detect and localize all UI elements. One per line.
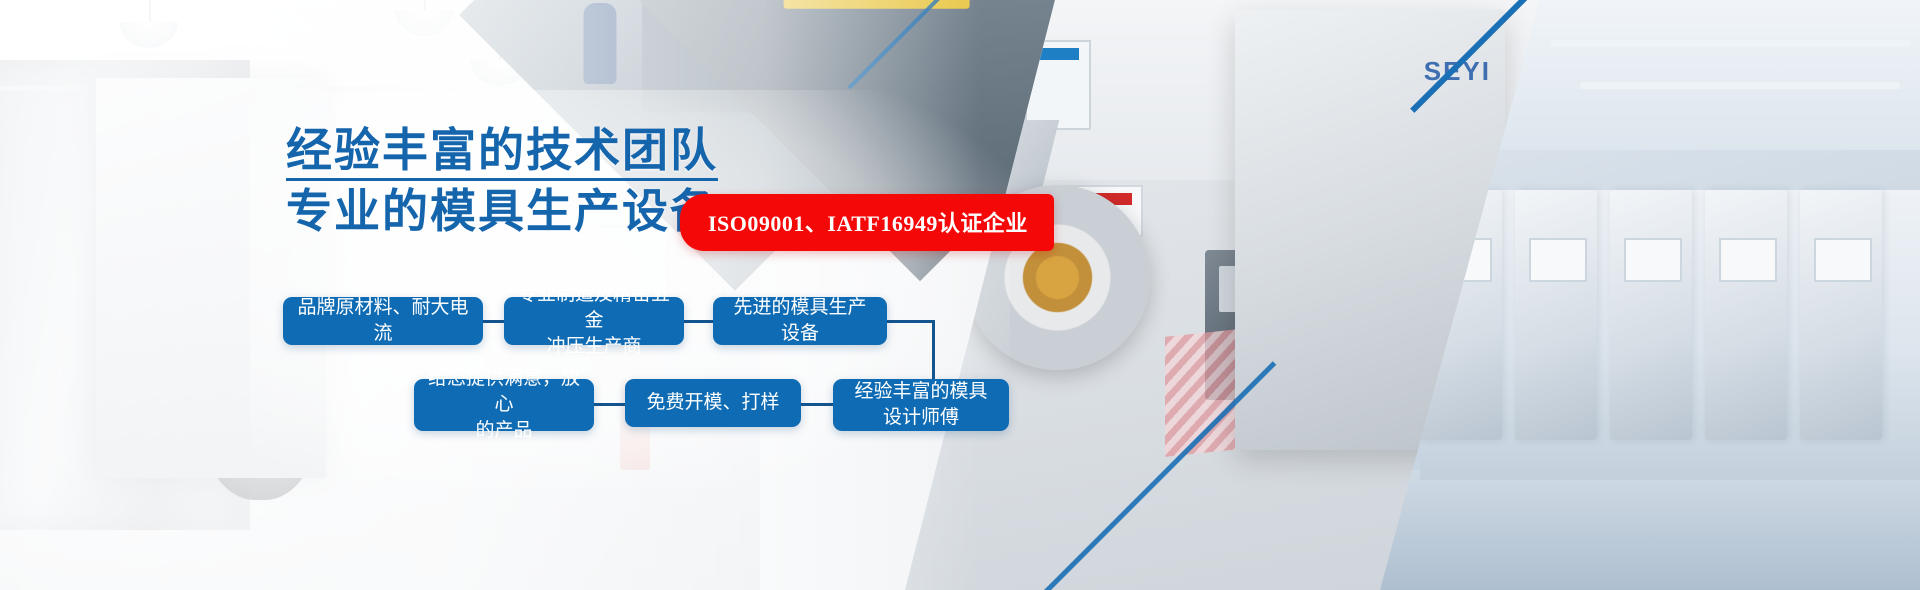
promo-banner: 经验丰富的技术团队 专业的模具生产设备 ISO09001、IATF16949认证… [0, 0, 1920, 590]
headline-line-2: 专业的模具生产设备 [286, 178, 718, 239]
feature-box-satisfaction-products[interactable]: 给您提供满意，放心 的产品 [414, 379, 594, 431]
connector-box5-box6 [801, 403, 833, 406]
connector-box4-box5 [594, 403, 625, 406]
connector-box1-box2 [483, 320, 504, 323]
feature-box-advanced-mold-equipment[interactable]: 先进的模具生产设备 [713, 297, 887, 345]
feature-box-brand-materials[interactable]: 品牌原材料、耐大电流 [283, 297, 483, 345]
banner-content: 经验丰富的技术团队 专业的模具生产设备 ISO09001、IATF16949认证… [0, 0, 1920, 590]
headline-line-1: 经验丰富的技术团队 [286, 122, 718, 178]
feature-box-experienced-designers[interactable]: 经验丰富的模具 设计师傅 [833, 379, 1009, 431]
feature-box-precision-stamping[interactable]: 专业制造及精密五金 冲压生产商 [504, 297, 684, 345]
connector-box3-right [887, 320, 935, 323]
feature-box-free-mold-sampling[interactable]: 免费开模、打样 [625, 379, 801, 427]
connector-box2-box3 [684, 320, 713, 323]
certification-badge: ISO09001、IATF16949认证企业 [680, 194, 1054, 251]
banner-headline: 经验丰富的技术团队 专业的模具生产设备 [286, 122, 718, 239]
